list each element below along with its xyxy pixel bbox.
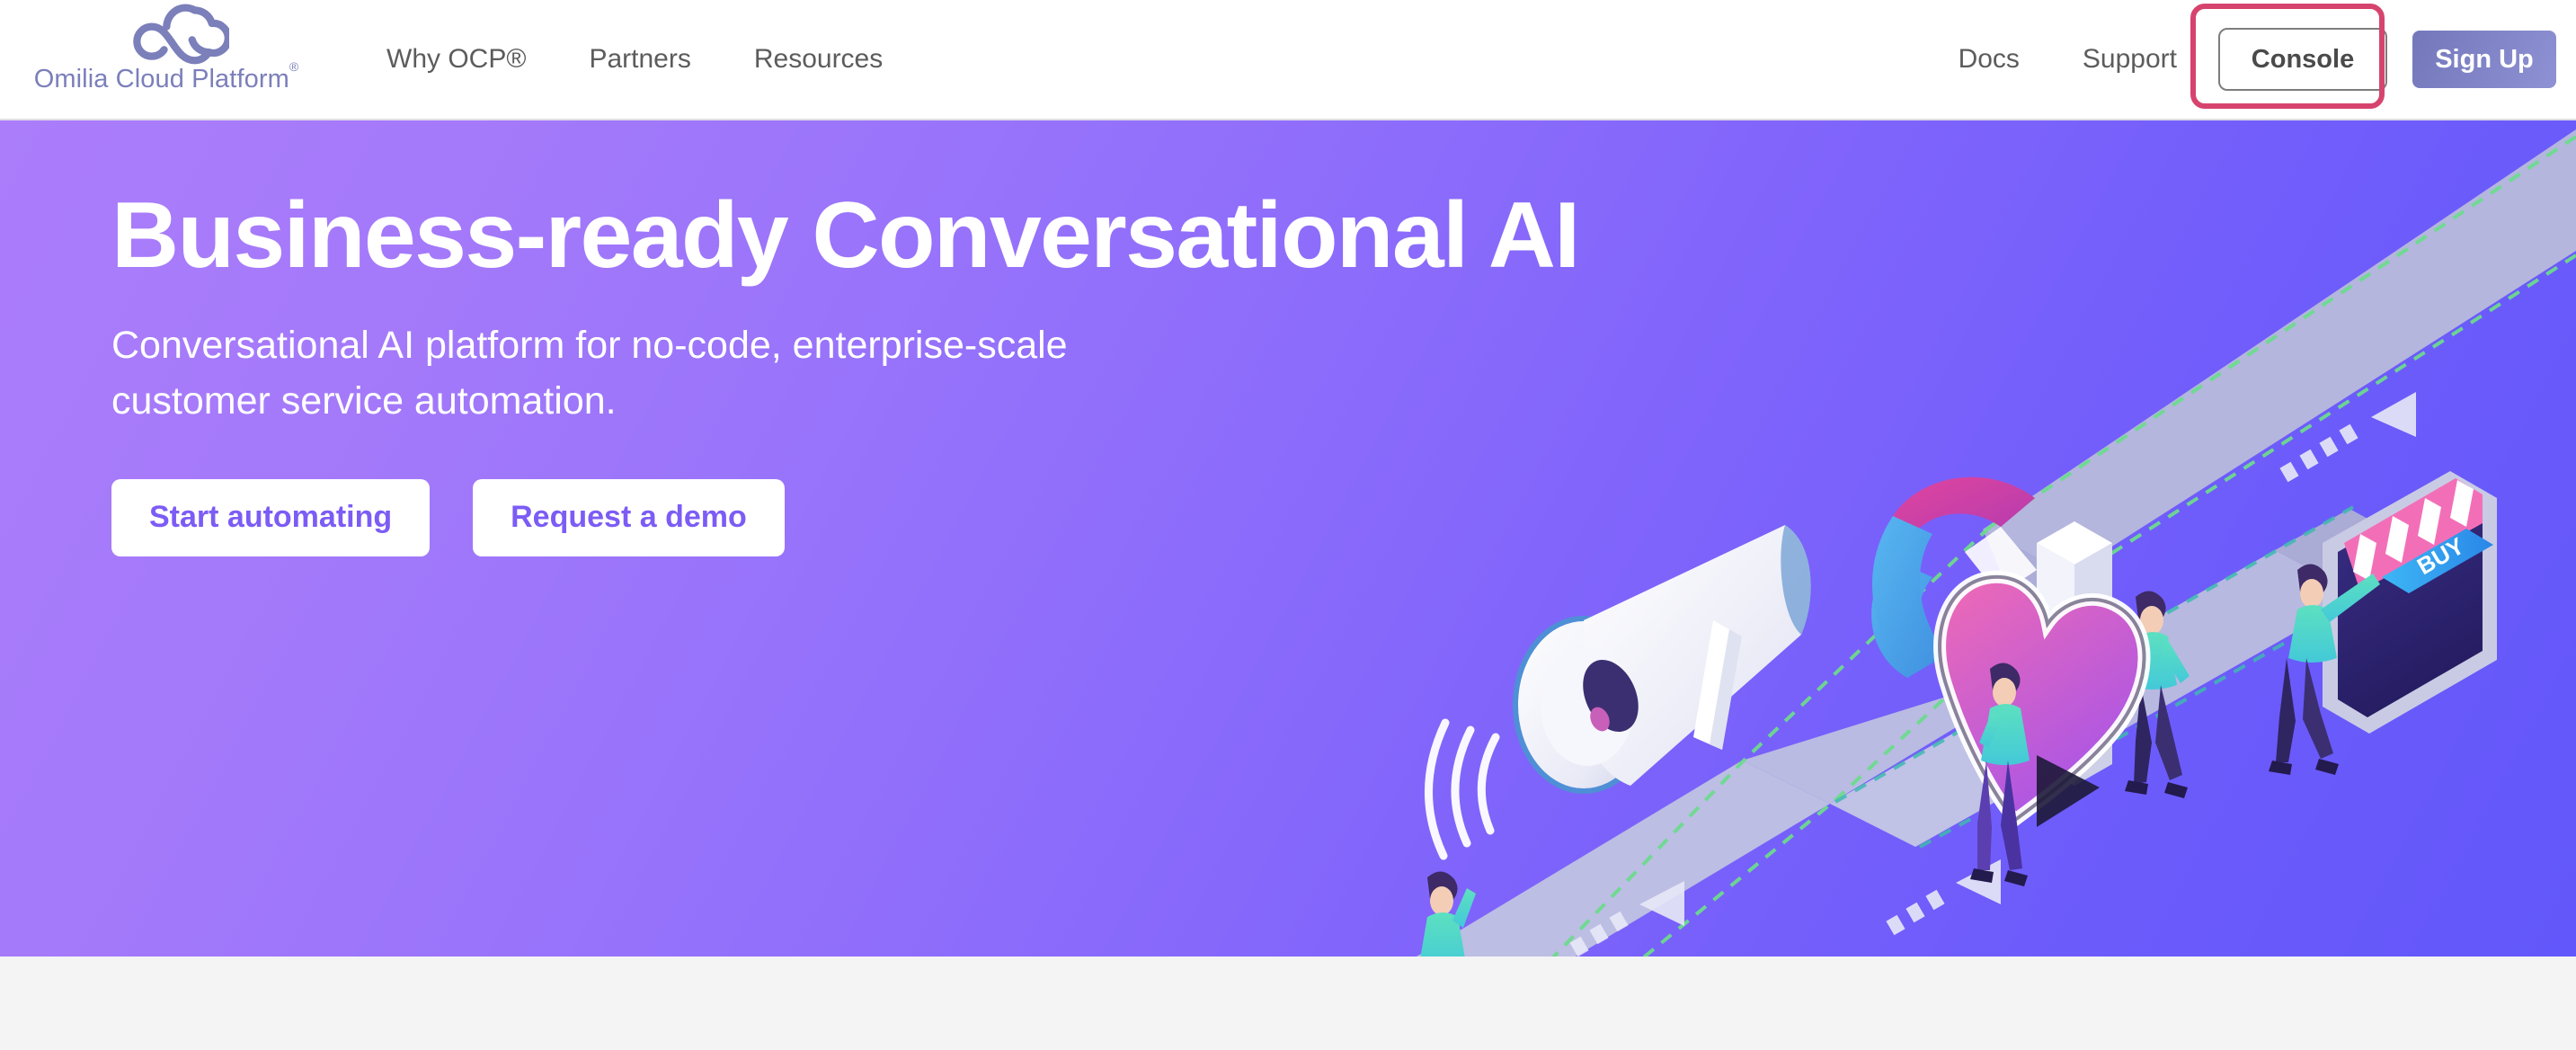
svg-text:BUY: BUY (2412, 532, 2469, 580)
person-listening-icon (1415, 871, 1476, 957)
nav-item-why-ocp[interactable]: Why OCP® (386, 44, 526, 75)
hero-subtitle: Conversational AI platform for no-code, … (111, 318, 1118, 428)
hero-copy: Business-ready Conversational AI Convers… (111, 183, 1280, 556)
landing-page: Omilia Cloud Platform® Why OCP® Partners… (0, 0, 2576, 1050)
megaphone-icon (1428, 525, 1810, 856)
cube-stack-icon (2037, 521, 2112, 786)
omilia-cloud-infinity-logo-icon (130, 2, 229, 65)
person-reaching-icon (2269, 564, 2380, 775)
console-button[interactable]: Console (2218, 28, 2387, 91)
road-arrow-markers (1569, 392, 2416, 957)
person-walking-icon (2125, 591, 2190, 798)
nav-item-docs[interactable]: Docs (1959, 44, 2020, 75)
sign-up-button[interactable]: Sign Up (2412, 31, 2556, 88)
heart-icon (1940, 577, 2144, 827)
hero-cta-group: Start automating Request a demo (111, 479, 1280, 556)
brand-name: Omilia Cloud Platform® (34, 67, 299, 93)
secondary-navigation: Docs Support Console Sign Up (1959, 0, 2556, 119)
magnet-icon (1871, 477, 2037, 678)
hero-section: BUY (0, 120, 2576, 957)
buy-button-icon: BUY (2382, 529, 2493, 593)
nav-item-support[interactable]: Support (2083, 44, 2177, 75)
nav-item-partners[interactable]: Partners (589, 44, 690, 75)
primary-navigation: Why OCP® Partners Resources (386, 0, 946, 119)
hero-title: Business-ready Conversational AI (111, 183, 1280, 288)
start-automating-button[interactable]: Start automating (111, 479, 430, 556)
smartphone-storefront-icon: BUY (2323, 471, 2497, 734)
below-fold-section (0, 957, 2576, 1050)
brand-logo[interactable]: Omilia Cloud Platform® (27, 2, 306, 113)
isometric-customer-journey-illustration: BUY (1408, 120, 2576, 957)
site-header: Omilia Cloud Platform® Why OCP® Partners… (0, 0, 2576, 120)
request-a-demo-button[interactable]: Request a demo (473, 479, 785, 556)
nav-item-resources[interactable]: Resources (754, 44, 883, 75)
person-standing-icon (1970, 663, 2030, 886)
zigzag-road-path (1417, 129, 2576, 957)
registered-trademark-icon: ® (289, 59, 298, 74)
